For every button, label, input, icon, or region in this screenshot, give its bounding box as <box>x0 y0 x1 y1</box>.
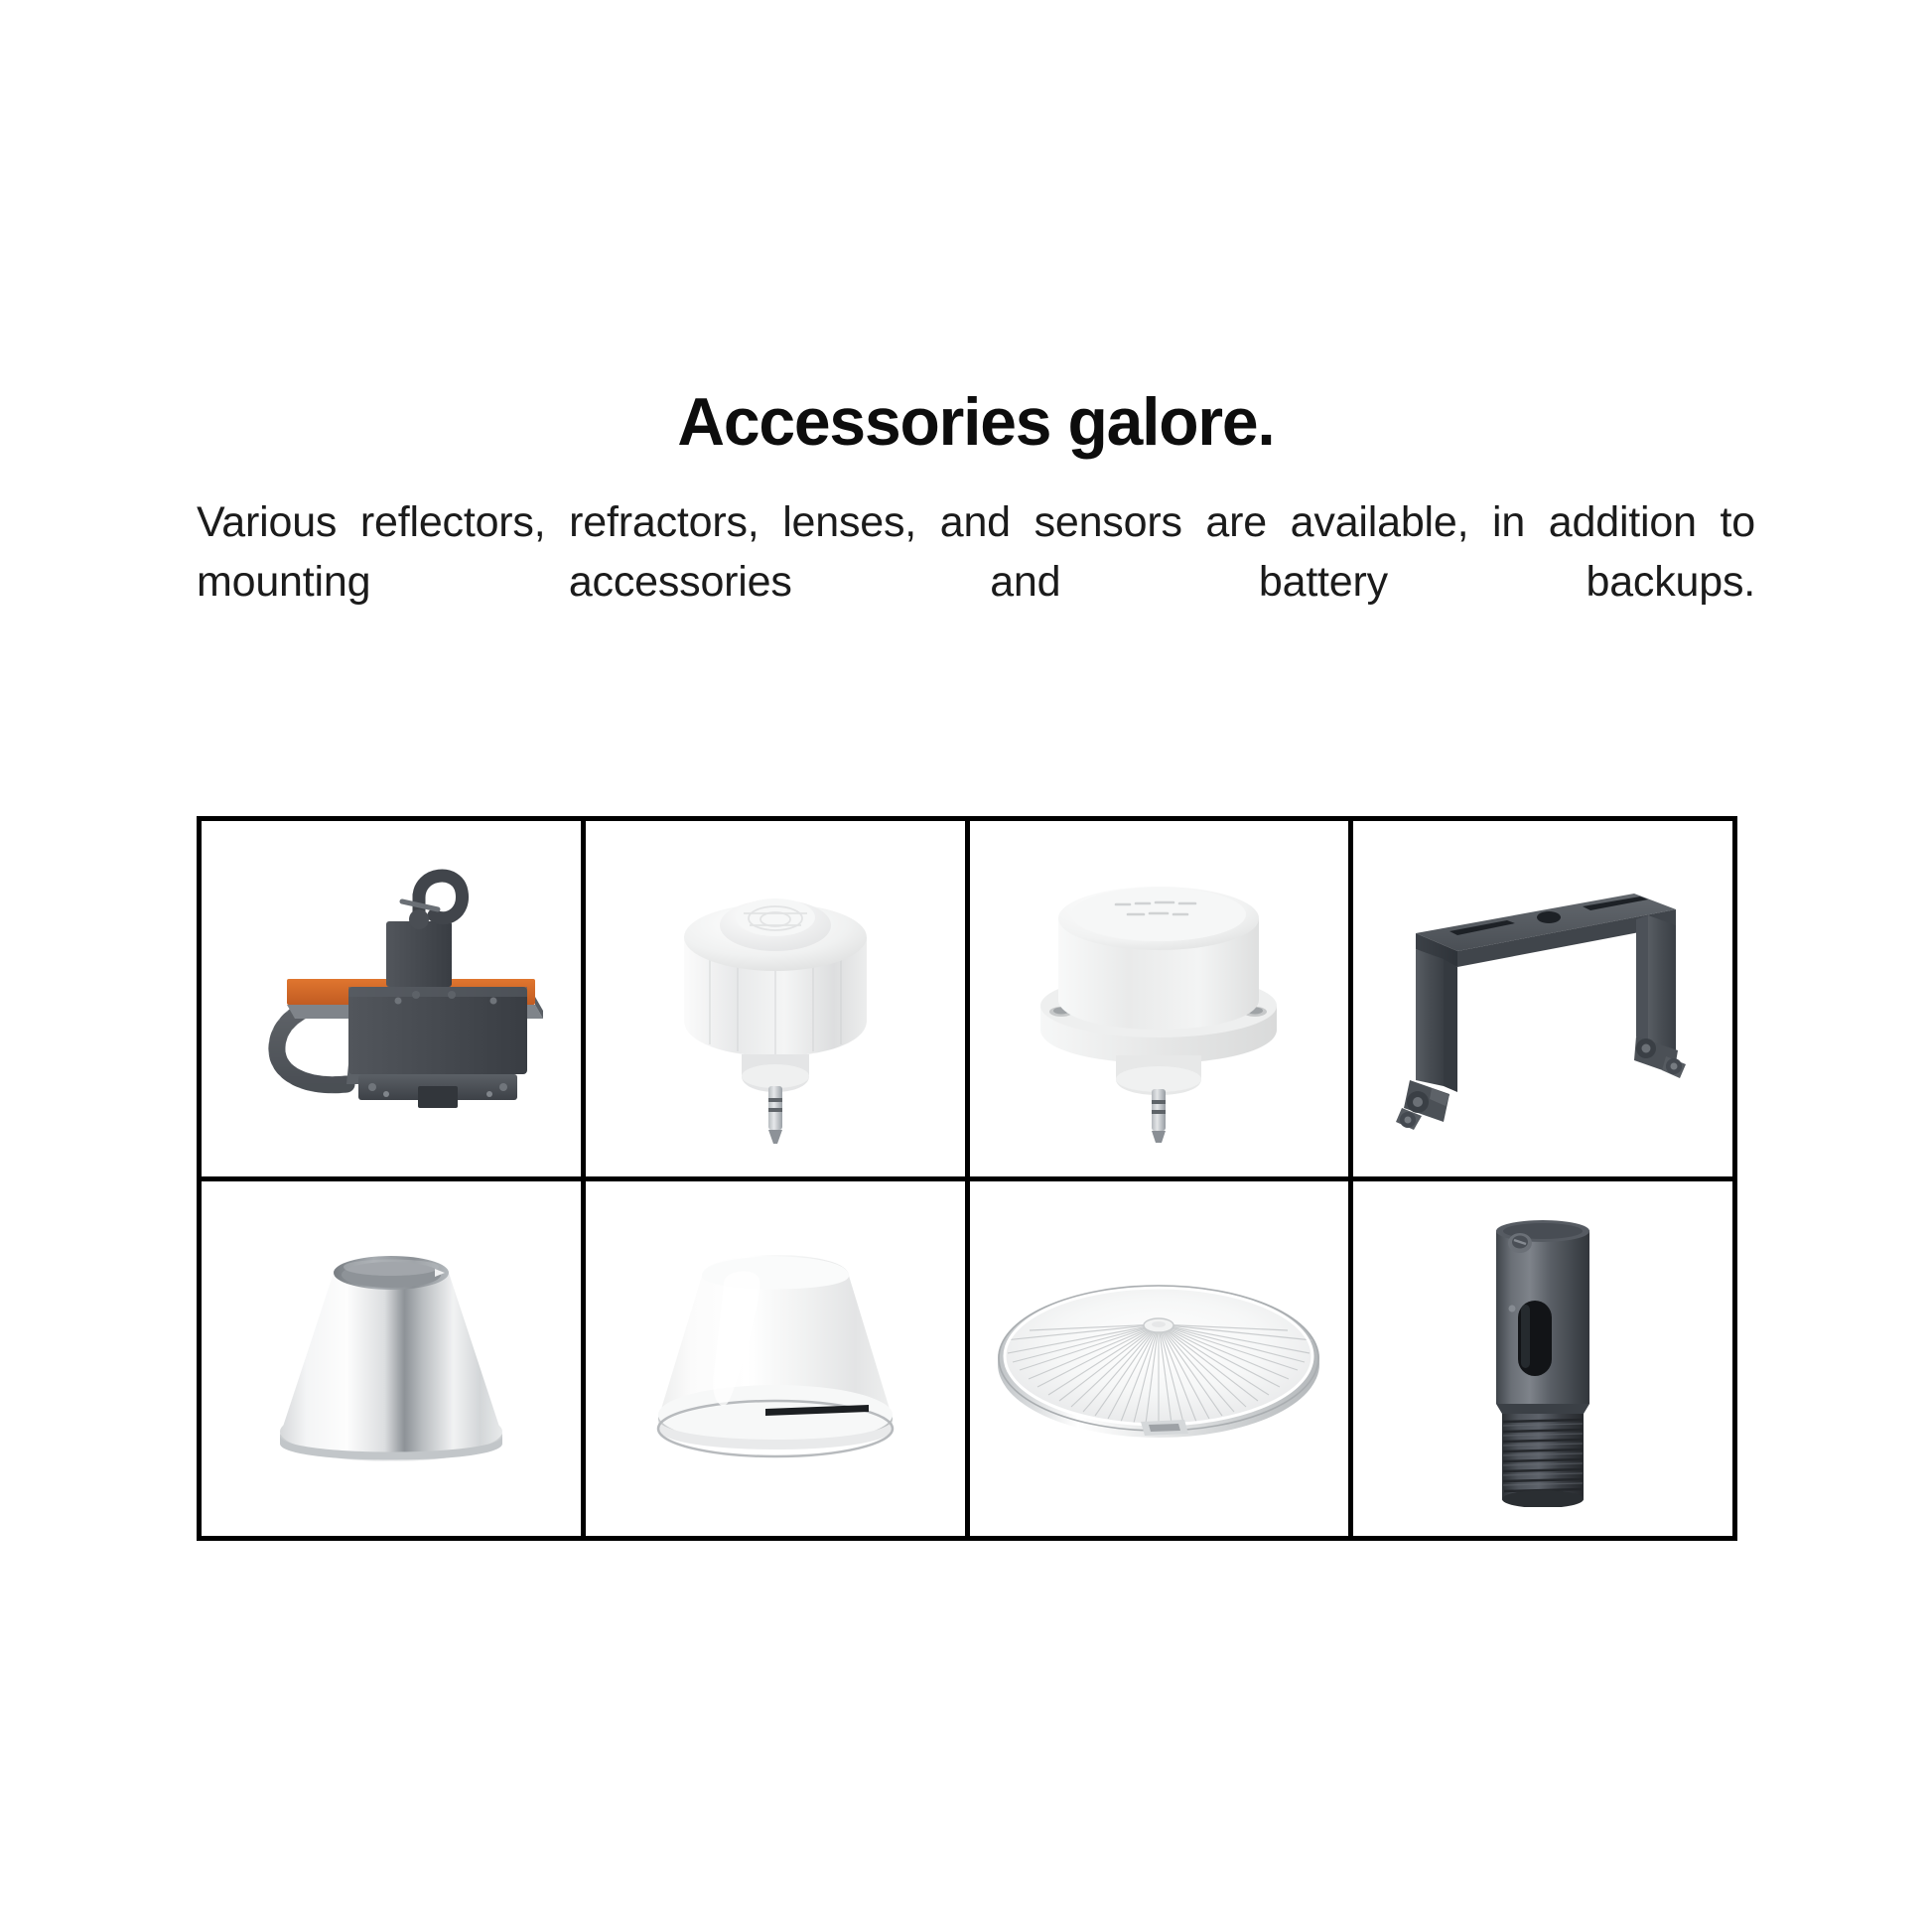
text-block: Accessories galore. Various reflectors, … <box>197 387 1755 670</box>
motion-sensor-icon <box>626 850 924 1148</box>
accessory-cell-photocell-sensor[interactable] <box>970 821 1354 1181</box>
aluminum-reflector-icon <box>222 1219 560 1497</box>
accessory-grid <box>197 816 1737 1541</box>
accessory-cell-hook-mount[interactable] <box>202 821 586 1181</box>
slide-root: Accessories galore. Various reflectors, … <box>0 0 1932 1932</box>
page-description: Various reflectors, refractors, lenses, … <box>197 493 1755 670</box>
accessory-cell-motion-sensor[interactable] <box>586 821 970 1181</box>
page-title: Accessories galore. <box>220 387 1732 458</box>
u-bracket-mount-icon <box>1384 860 1702 1138</box>
accessory-cell-aluminum-reflector[interactable] <box>202 1181 586 1542</box>
accessory-cell-clear-refractor[interactable] <box>586 1181 970 1542</box>
threaded-pendant-adapter-icon <box>1458 1209 1627 1507</box>
accessory-cell-pendant-adapter[interactable] <box>1353 1181 1737 1542</box>
flanged-photocell-sensor-icon <box>1005 855 1312 1143</box>
prismatic-lens-icon <box>990 1249 1327 1467</box>
clear-refractor-icon <box>607 1224 944 1492</box>
accessory-cell-mounting-bracket[interactable] <box>1353 821 1737 1181</box>
accessory-cell-prismatic-lens[interactable] <box>970 1181 1354 1542</box>
hook-mount-assembly-icon <box>227 850 555 1148</box>
